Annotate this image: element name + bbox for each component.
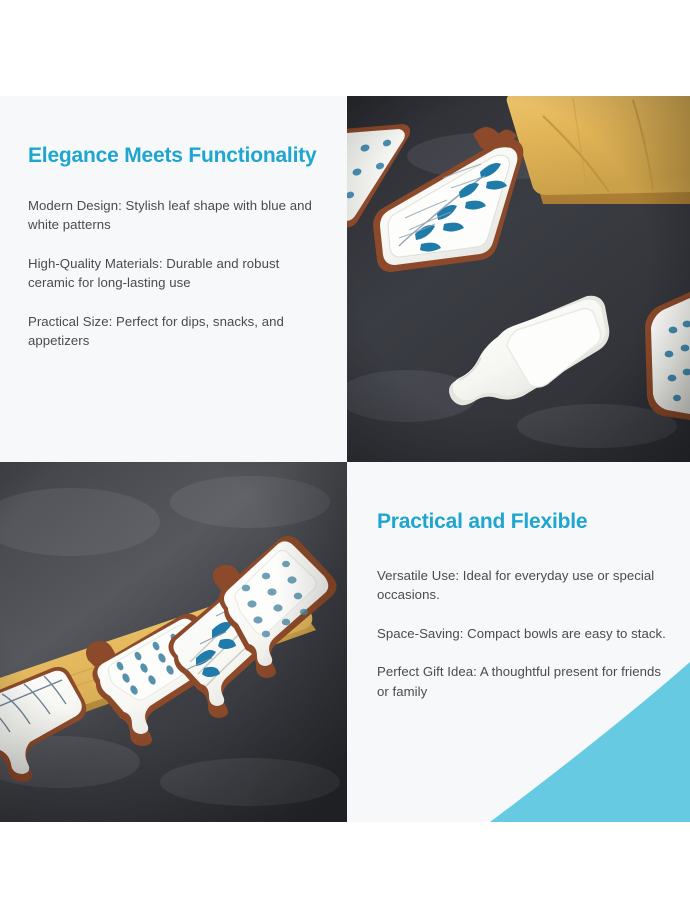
text-block: Elegance Meets Functionality Modern Desi… — [0, 96, 347, 351]
infographic-page: Elegance Meets Functionality Modern Desi… — [0, 0, 690, 920]
text-block: Practical and Flexible Versatile Use: Id… — [347, 462, 690, 701]
photo-bottom-left-illustration — [0, 462, 347, 822]
feature-perfect-gift-idea: Perfect Gift Idea: A thoughtful present … — [377, 662, 668, 701]
product-photo-tray-set — [0, 462, 347, 822]
product-photo-dishes-with-board — [347, 96, 690, 462]
panel-practical-and-flexible: Practical and Flexible Versatile Use: Id… — [347, 462, 690, 822]
panel-headline-top-left: Elegance Meets Functionality — [28, 142, 321, 170]
panel-grid: Elegance Meets Functionality Modern Desi… — [0, 96, 690, 822]
feature-modern-design: Modern Design: Stylish leaf shape with b… — [28, 196, 321, 235]
panel-elegance-meets-functionality: Elegance Meets Functionality Modern Desi… — [0, 96, 347, 462]
photo-top-right-illustration — [347, 96, 690, 462]
feature-versatile-use: Versatile Use: Ideal for everyday use or… — [377, 566, 668, 605]
panel-headline-bottom-right: Practical and Flexible — [377, 508, 668, 536]
feature-practical-size: Practical Size: Perfect for dips, snacks… — [28, 312, 321, 351]
feature-high-quality-materials: High-Quality Materials: Durable and robu… — [28, 254, 321, 293]
feature-space-saving: Space-Saving: Compact bowls are easy to … — [377, 624, 668, 644]
